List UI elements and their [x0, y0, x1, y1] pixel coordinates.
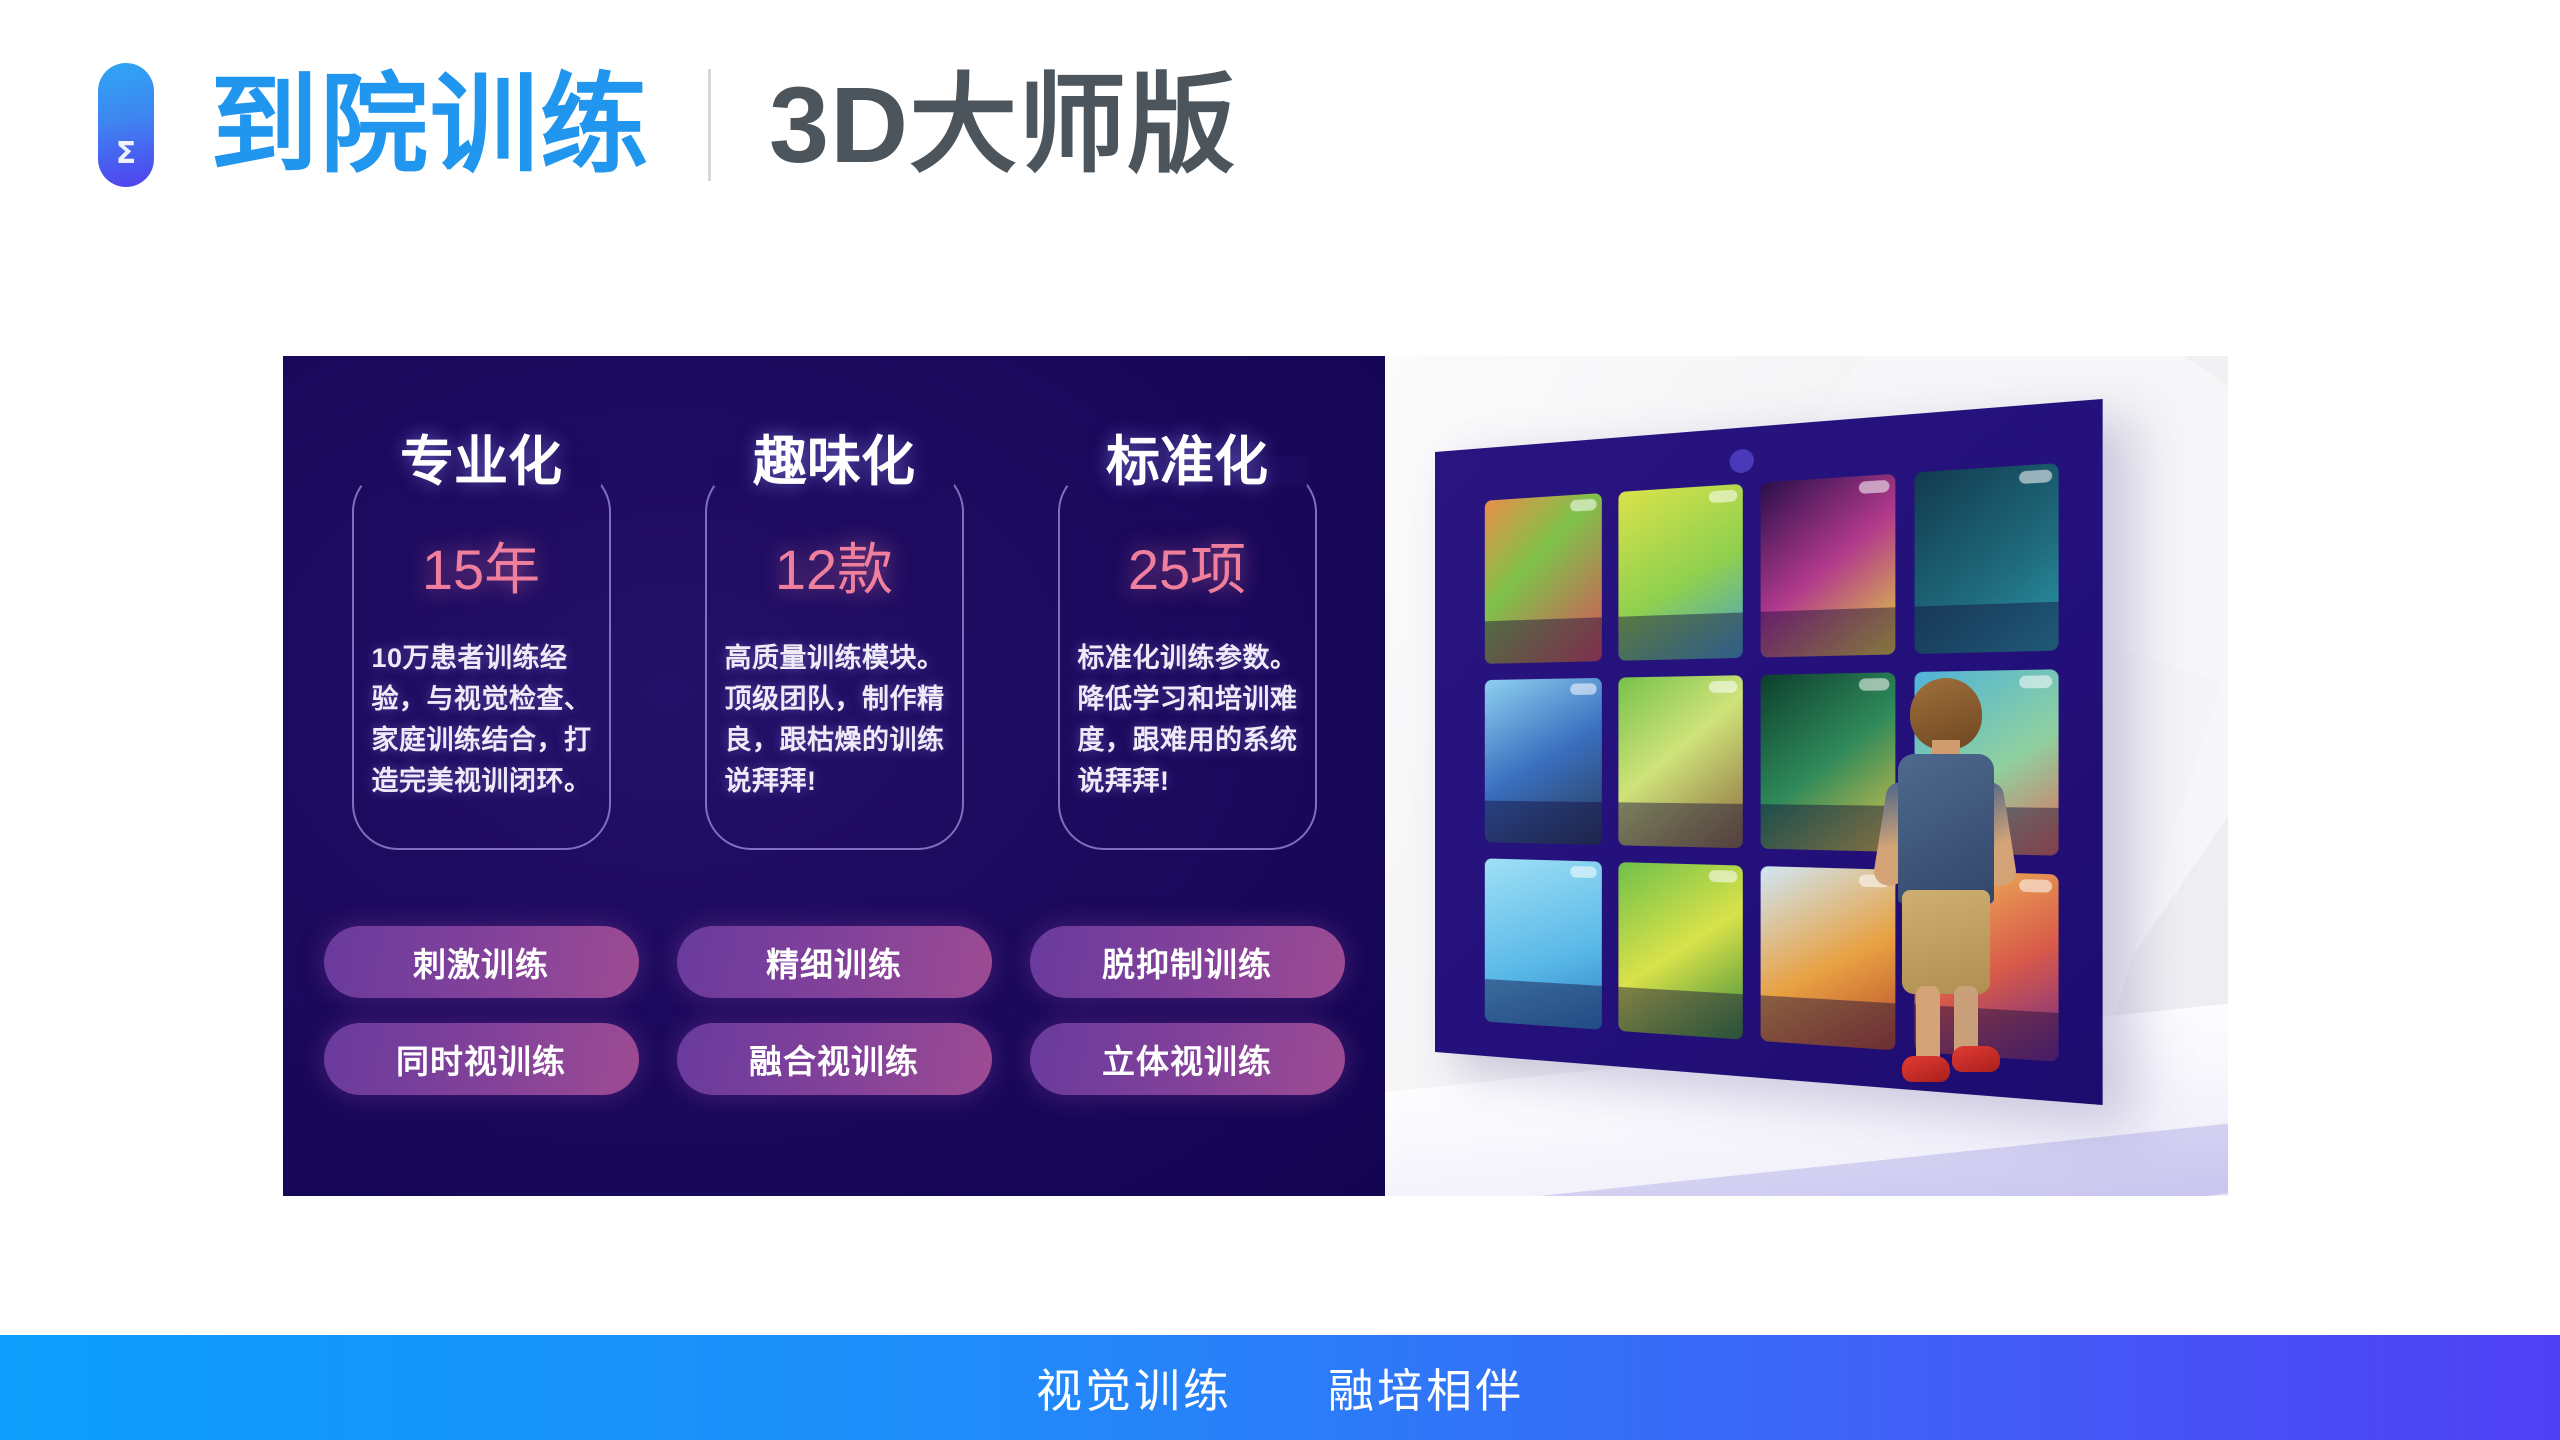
footer-slogan-right: 融培相伴 — [1328, 1355, 1524, 1421]
product-photo — [1385, 356, 2228, 1196]
brand-logo-glyph: Σ — [116, 139, 137, 169]
tile-badge — [1570, 683, 1597, 695]
brand-logo-icon: Σ — [98, 63, 154, 187]
card-number: 15年 — [324, 542, 639, 598]
child-shoe-right — [1952, 1046, 2000, 1072]
child-shorts — [1902, 890, 1990, 994]
child-shirt — [1898, 754, 1994, 904]
child-leg-left — [1916, 986, 1940, 1066]
card-description: 10万患者训练经验，与视觉检查、家庭训练结合，打造完美视训闭环。 — [372, 638, 599, 802]
game-tile — [1485, 678, 1602, 846]
game-tile — [1485, 859, 1602, 1030]
child-shoe-left — [1902, 1056, 1950, 1082]
game-tile — [1914, 463, 2059, 654]
screen-camera-icon — [1730, 448, 1754, 474]
training-mode-pill[interactable]: 精细训练 — [677, 926, 992, 998]
training-mode-pill[interactable]: 刺激训练 — [324, 926, 639, 998]
footer-slogan-left: 视觉训练 — [1036, 1355, 1232, 1421]
card-number: 12款 — [677, 542, 992, 598]
tile-badge — [1709, 490, 1737, 504]
main-content: 专业化 15年 10万患者训练经验，与视觉检查、家庭训练结合，打造完美视训闭环。… — [283, 356, 2228, 1196]
game-tile — [1618, 862, 1743, 1039]
training-modes-row: 同时视训练 融合视训练 立体视训练 — [324, 1023, 1345, 1095]
training-mode-pill[interactable]: 立体视训练 — [1030, 1023, 1345, 1095]
tile-badge — [1709, 680, 1737, 692]
card-description: 高质量训练模块。顶级团队，制作精良，跟枯燥的训练说拜拜! — [725, 638, 952, 802]
training-mode-pill[interactable]: 同时视训练 — [324, 1023, 639, 1095]
tile-badge — [1709, 870, 1737, 883]
game-tile — [1618, 675, 1743, 849]
page-header: Σ 到院训练 3D大师版 — [0, 0, 2560, 250]
tile-badge — [2019, 469, 2052, 484]
tile-badge — [1570, 866, 1597, 878]
child-figure — [1872, 678, 2022, 1098]
training-mode-pill[interactable]: 脱抑制训练 — [1030, 926, 1345, 998]
page-subtitle: 3D大师版 — [769, 71, 1236, 179]
feature-card: 标准化 25项 标准化训练参数。降低学习和培训难度，跟难用的系统说拜拜! — [1030, 432, 1345, 850]
training-mode-pill[interactable]: 融合视训练 — [677, 1023, 992, 1095]
card-number: 25项 — [1030, 542, 1345, 598]
features-panel: 专业化 15年 10万患者训练经验，与视觉检查、家庭训练结合，打造完美视训闭环。… — [283, 356, 1385, 1196]
card-title: 专业化 — [324, 432, 639, 492]
page-title: 到院训练 — [210, 71, 650, 179]
game-tile — [1485, 493, 1602, 663]
card-title: 趣味化 — [677, 432, 992, 492]
game-tile — [1761, 474, 1895, 657]
training-modes-row: 刺激训练 精细训练 脱抑制训练 — [324, 926, 1345, 998]
feature-cards-row: 专业化 15年 10万患者训练经验，与视觉检查、家庭训练结合，打造完美视训闭环。… — [283, 432, 1385, 850]
tile-badge — [2019, 675, 2052, 688]
card-description: 标准化训练参数。降低学习和培训难度，跟难用的系统说拜拜! — [1078, 638, 1305, 802]
game-tile — [1618, 484, 1743, 661]
feature-card: 趣味化 12款 高质量训练模块。顶级团队，制作精良，跟枯燥的训练说拜拜! — [677, 432, 992, 850]
training-modes-grid: 刺激训练 精细训练 脱抑制训练 同时视训练 融合视训练 立体视训练 — [283, 926, 1385, 1095]
title-divider — [708, 69, 711, 181]
card-title: 标准化 — [1030, 432, 1345, 492]
feature-card: 专业化 15年 10万患者训练经验，与视觉检查、家庭训练结合，打造完美视训闭环。 — [324, 432, 639, 850]
page-footer: 视觉训练 融培相伴 — [0, 1335, 2560, 1440]
tile-badge — [1570, 499, 1597, 512]
tile-badge — [1858, 480, 1889, 494]
tile-badge — [2019, 879, 2052, 893]
